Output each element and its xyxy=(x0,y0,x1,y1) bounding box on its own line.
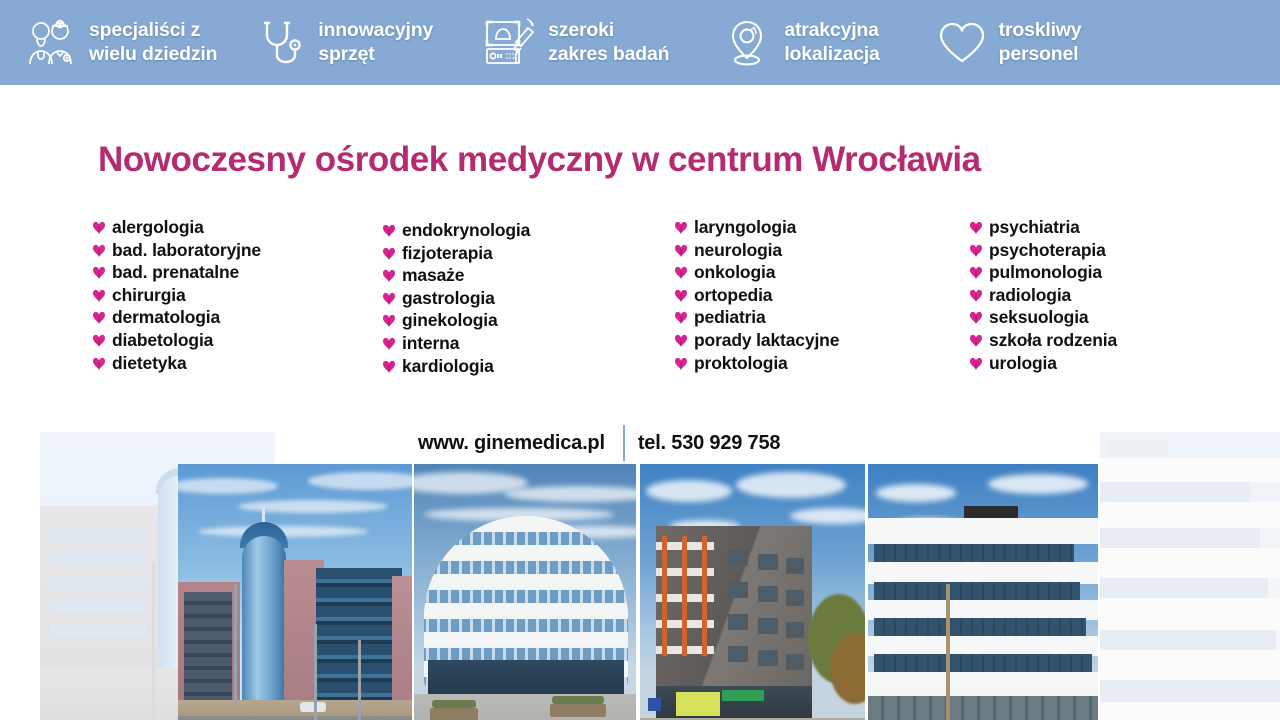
list-item: szkoła rodzenia xyxy=(969,329,1239,352)
services-column-4: psychiatria psychoterapia pulmonologia r… xyxy=(969,216,1239,377)
tulip-bullet-icon xyxy=(969,265,983,279)
service-label: chirurgia xyxy=(112,284,186,307)
tulip-bullet-icon xyxy=(969,333,983,347)
feature-item-specialists: specjaliści z wielu dziedzin xyxy=(26,17,217,69)
list-item: gastrologia xyxy=(382,287,674,310)
service-label: szkoła rodzenia xyxy=(989,329,1117,352)
list-item: bad. prenatalne xyxy=(92,261,382,284)
service-label: ortopedia xyxy=(694,284,772,307)
service-label: neurologia xyxy=(694,239,782,262)
tulip-bullet-icon xyxy=(382,246,396,260)
photo-white-oval-building xyxy=(414,464,636,720)
list-item: alergologia xyxy=(92,216,382,239)
feature-label: troskliwy personel xyxy=(999,19,1082,66)
tulip-bullet-icon xyxy=(674,265,688,279)
list-item: bad. laboratoryjne xyxy=(92,239,382,262)
photo-white-modern-clinic xyxy=(868,464,1098,720)
list-item: radiologia xyxy=(969,284,1239,307)
service-label: bad. laboratoryjne xyxy=(112,239,261,262)
list-item: pediatria xyxy=(674,306,969,329)
feature-label: specjaliści z wielu dziedzin xyxy=(89,19,217,66)
list-item: ortopedia xyxy=(674,284,969,307)
tulip-bullet-icon xyxy=(674,243,688,257)
stethoscope-icon xyxy=(255,17,307,69)
service-label: alergologia xyxy=(112,216,204,239)
service-label: seksuologia xyxy=(989,306,1089,329)
tulip-bullet-icon xyxy=(969,310,983,324)
tulip-bullet-icon xyxy=(674,288,688,302)
service-label: porady laktacyjne xyxy=(694,329,839,352)
service-label: interna xyxy=(402,332,459,355)
service-label: diabetologia xyxy=(112,329,213,352)
service-label: ginekologia xyxy=(402,309,498,332)
two-doctors-icon xyxy=(26,17,78,69)
list-item: onkologia xyxy=(674,261,969,284)
ultrasound-machine-icon xyxy=(485,17,537,69)
building-gallery xyxy=(0,432,1280,720)
service-label: psychiatria xyxy=(989,216,1080,239)
tulip-bullet-icon xyxy=(382,268,396,282)
tulip-bullet-icon xyxy=(969,288,983,302)
list-item: porady laktacyjne xyxy=(674,329,969,352)
tulip-bullet-icon xyxy=(382,313,396,327)
feature-item-scope: szeroki zakres badań xyxy=(485,17,669,69)
service-label: gastrologia xyxy=(402,287,495,310)
list-item: dermatologia xyxy=(92,306,382,329)
feature-label: atrakcyjna lokalizacja xyxy=(784,19,879,66)
service-label: dermatologia xyxy=(112,306,220,329)
feature-banner: specjaliści z wielu dziedzin innowacyjny… xyxy=(0,0,1280,85)
tulip-bullet-icon xyxy=(382,223,396,237)
tulip-bullet-icon xyxy=(969,243,983,257)
heart-outline-icon xyxy=(936,17,988,69)
services-list: alergologia bad. laboratoryjne bad. pren… xyxy=(92,216,1242,377)
service-label: laryngologia xyxy=(694,216,796,239)
tulip-bullet-icon xyxy=(382,291,396,305)
list-item: seksuologia xyxy=(969,306,1239,329)
service-label: masaże xyxy=(402,264,464,287)
list-item: pulmonologia xyxy=(969,261,1239,284)
feature-label: szeroki zakres badań xyxy=(548,19,669,66)
list-item: psychoterapia xyxy=(969,239,1239,262)
service-label: pulmonologia xyxy=(989,261,1102,284)
service-label: kardiologia xyxy=(402,355,494,378)
service-label: dietetyka xyxy=(112,352,187,375)
tulip-bullet-icon xyxy=(674,220,688,234)
photo-grey-orange-apartment xyxy=(640,464,865,720)
service-label: pediatria xyxy=(694,306,766,329)
tulip-bullet-icon xyxy=(92,288,106,302)
tulip-bullet-icon xyxy=(92,356,106,370)
poster-page: specjaliści z wielu dziedzin innowacyjny… xyxy=(0,0,1280,720)
service-label: endokrynologia xyxy=(402,219,530,242)
tulip-bullet-icon xyxy=(92,310,106,324)
tulip-bullet-icon xyxy=(382,336,396,350)
service-label: onkologia xyxy=(694,261,775,284)
list-item: laryngologia xyxy=(674,216,969,239)
tulip-bullet-icon xyxy=(382,359,396,373)
list-item: endokrynologia xyxy=(382,219,674,242)
feature-label: innowacyjny sprzęt xyxy=(318,19,433,66)
list-item: kardiologia xyxy=(382,355,674,378)
location-pin-icon xyxy=(721,17,773,69)
list-item: masaże xyxy=(382,264,674,287)
list-item: ginekologia xyxy=(382,309,674,332)
feature-item-equipment: innowacyjny sprzęt xyxy=(255,17,433,69)
tulip-bullet-icon xyxy=(92,220,106,234)
contact-bar: www. ginemedica.pl tel. 530 929 758 xyxy=(340,425,876,461)
list-item: fizjoterapia xyxy=(382,242,674,265)
service-label: psychoterapia xyxy=(989,239,1106,262)
list-item: interna xyxy=(382,332,674,355)
phone-number[interactable]: tel. 530 929 758 xyxy=(625,425,876,461)
website-link[interactable]: www. ginemedica.pl xyxy=(340,425,623,461)
service-label: radiologia xyxy=(989,284,1071,307)
service-label: urologia xyxy=(989,352,1057,375)
list-item: proktologia xyxy=(674,352,969,375)
tulip-bullet-icon xyxy=(969,220,983,234)
list-item: urologia xyxy=(969,352,1239,375)
service-label: bad. prenatalne xyxy=(112,261,239,284)
service-label: proktologia xyxy=(694,352,788,375)
tulip-bullet-icon xyxy=(92,265,106,279)
photo-pink-office-blue-tower xyxy=(178,464,412,720)
list-item: diabetologia xyxy=(92,329,382,352)
tulip-bullet-icon xyxy=(92,333,106,347)
service-label: fizjoterapia xyxy=(402,242,493,265)
tulip-bullet-icon xyxy=(674,310,688,324)
services-column-1: alergologia bad. laboratoryjne bad. pren… xyxy=(92,216,382,377)
tulip-bullet-icon xyxy=(969,356,983,370)
list-item: psychiatria xyxy=(969,216,1239,239)
services-column-3: laryngologia neurologia onkologia ortope… xyxy=(674,216,969,377)
services-column-2: endokrynologia fizjoterapia masaże gastr… xyxy=(382,216,674,377)
feature-item-staff: troskliwy personel xyxy=(936,17,1082,69)
feature-item-location: atrakcyjna lokalizacja xyxy=(721,17,879,69)
page-title: Nowoczesny ośrodek medyczny w centrum Wr… xyxy=(98,140,1198,180)
tulip-bullet-icon xyxy=(674,333,688,347)
list-item: neurologia xyxy=(674,239,969,262)
list-item: dietetyka xyxy=(92,352,382,375)
photo-white-building-faded xyxy=(1100,432,1280,720)
list-item: chirurgia xyxy=(92,284,382,307)
tulip-bullet-icon xyxy=(92,243,106,257)
tulip-bullet-icon xyxy=(674,356,688,370)
